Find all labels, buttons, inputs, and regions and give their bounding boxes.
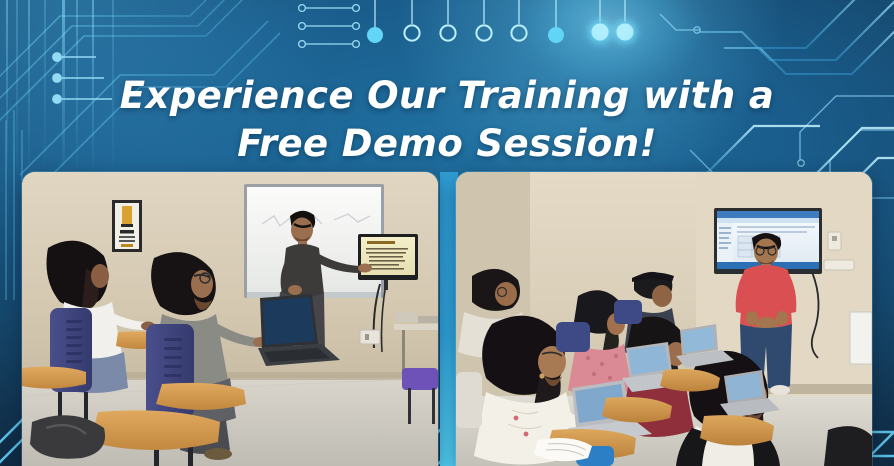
headline-line-2: Free Demo Session! bbox=[0, 120, 894, 168]
photo-2-illustration bbox=[456, 172, 872, 466]
photo-1-illustration bbox=[22, 172, 438, 466]
trace-group-node-ladder bbox=[299, 5, 360, 48]
headline-line-1: Experience Our Training with a bbox=[120, 74, 774, 117]
photo-classroom-students-lab: Trainer in a red polo standing beside a … bbox=[456, 172, 872, 466]
promo-banner: Experience Our Training with a Free Demo… bbox=[0, 0, 894, 466]
headline: Experience Our Training with a Free Demo… bbox=[0, 72, 894, 168]
motivational-poster bbox=[112, 200, 142, 252]
photo-classroom-instructor-whiteboard: Instructor in dark shirt presenting besi… bbox=[22, 172, 438, 466]
photo-gallery: Instructor in dark shirt presenting besi… bbox=[22, 172, 872, 466]
trace-group-top-right bbox=[700, 0, 894, 74]
